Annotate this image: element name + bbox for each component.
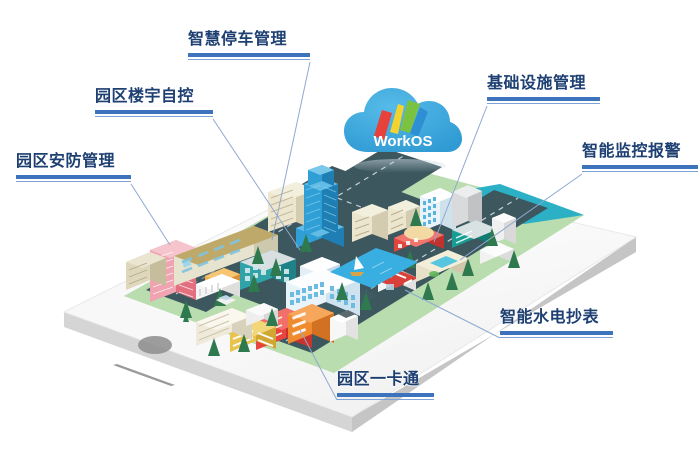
callout-park-one-card[interactable]: 园区一卡通 <box>337 370 434 400</box>
callout-smart-surveillance-alarm-text: 智能监控报警 <box>582 142 698 162</box>
callout-park-security[interactable]: 园区安防管理 <box>16 152 131 182</box>
callout-labels: 智慧停车管理园区楼宇自控园区安防管理基础设施管理智能监控报警智能水电抄表园区一卡… <box>0 0 700 450</box>
callout-building-automation-hairline <box>95 116 213 117</box>
callout-smart-parking-underline <box>188 53 310 57</box>
callout-smart-surveillance-alarm-hairline <box>582 171 698 172</box>
callout-smart-utility-metering[interactable]: 智能水电抄表 <box>500 308 613 338</box>
callout-smart-utility-metering-underline <box>500 331 613 335</box>
callout-infrastructure-management[interactable]: 基础设施管理 <box>487 74 600 104</box>
callout-park-one-card-text: 园区一卡通 <box>337 370 434 390</box>
callout-infrastructure-management-underline <box>487 97 600 101</box>
callout-infrastructure-management-hairline <box>487 103 600 104</box>
callout-smart-surveillance-alarm-underline <box>582 165 698 169</box>
infographic-canvas: WorkOS 智慧停车管理园区楼宇自控园区安防管理基础设施管理智能监控报警智能水… <box>0 0 700 450</box>
callout-smart-parking-hairline <box>188 59 310 60</box>
callout-park-security-text: 园区安防管理 <box>16 152 131 172</box>
callout-smart-utility-metering-hairline <box>500 337 613 338</box>
callout-smart-parking[interactable]: 智慧停车管理 <box>188 30 310 60</box>
callout-building-automation-underline <box>95 110 213 114</box>
callout-smart-surveillance-alarm[interactable]: 智能监控报警 <box>582 142 698 172</box>
callout-infrastructure-management-text: 基础设施管理 <box>487 74 600 94</box>
callout-park-security-underline <box>16 175 131 179</box>
callout-park-one-card-hairline <box>337 399 434 400</box>
callout-smart-parking-text: 智慧停车管理 <box>188 30 310 50</box>
callout-park-security-hairline <box>16 181 131 182</box>
callout-park-one-card-underline <box>337 393 434 397</box>
callout-building-automation[interactable]: 园区楼宇自控 <box>95 87 213 117</box>
callout-smart-utility-metering-text: 智能水电抄表 <box>500 308 613 328</box>
callout-building-automation-text: 园区楼宇自控 <box>95 87 213 107</box>
